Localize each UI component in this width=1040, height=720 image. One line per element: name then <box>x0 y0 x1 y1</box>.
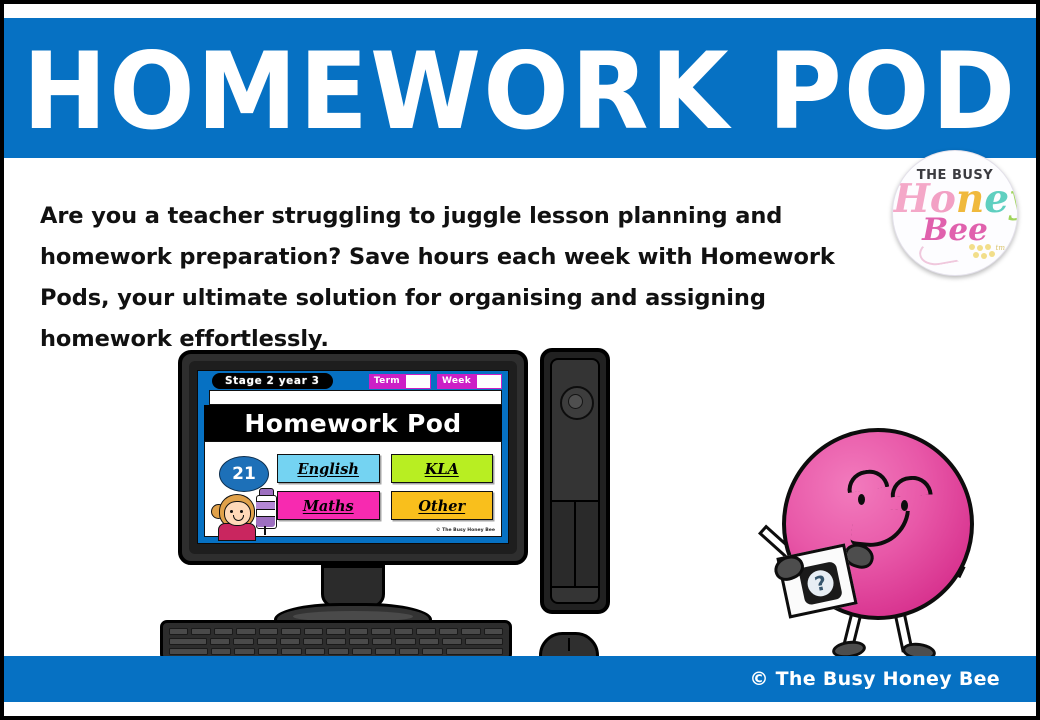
girl-face <box>224 501 251 526</box>
subject-button-maths[interactable]: Maths <box>277 491 380 520</box>
monitor: Stage 2 year 3 Term Week Homework Pod <box>178 350 528 565</box>
monitor-neck <box>321 565 385 608</box>
logo-bee-text: Bee <box>893 213 1017 247</box>
screen-content: 21 English KLA Maths Other <box>204 441 502 537</box>
logo-trademark: tm <box>996 244 1005 252</box>
keyboard-row <box>169 648 503 655</box>
monitor-screen: Stage 2 year 3 Term Week Homework Pod <box>197 370 509 544</box>
header-band: HOMEWORK POD <box>4 18 1036 158</box>
subject-button-maths-label: Maths <box>303 498 354 515</box>
girl-clipart <box>211 488 285 536</box>
page-title: HOMEWORK POD <box>4 36 1036 148</box>
footer-credit: © The Busy Honey Bee <box>749 656 1000 702</box>
bottle-band-upper <box>256 501 275 510</box>
girl-eye-right <box>240 510 243 513</box>
subject-button-kla-label: KLA <box>425 461 459 478</box>
term-week-group: Term Week <box>369 373 502 389</box>
screen-credit: © The Busy Honey Bee <box>436 528 495 533</box>
keyboard-row <box>169 638 503 645</box>
power-button[interactable] <box>560 386 594 420</box>
girl-mouth <box>233 515 244 521</box>
stage-label: Stage 2 year 3 <box>212 373 333 389</box>
monitor-bezel: Stage 2 year 3 Term Week Homework Pod <box>189 361 517 554</box>
brand-logo-badge: THE BUSY Honey Bee tm <box>892 150 1018 276</box>
logo-honeycomb-icon <box>969 244 999 260</box>
question-mark-glyph: ? <box>799 567 842 600</box>
week-label: Week <box>437 374 476 389</box>
subject-button-english-label: English <box>298 461 359 478</box>
description-paragraph: Are you a teacher struggling to juggle l… <box>40 196 874 360</box>
computer-tower <box>540 348 610 614</box>
subject-button-english[interactable]: English <box>277 454 380 483</box>
girl-eye-left <box>230 510 233 513</box>
character-eyebrow-left <box>845 467 890 493</box>
subject-button-other-label: Other <box>418 498 465 515</box>
week-input[interactable] <box>476 374 502 389</box>
footer-band: © The Busy Honey Bee <box>4 656 1036 702</box>
screen-topbar: Stage 2 year 3 Term Week <box>198 371 508 391</box>
screen-title-band: Homework Pod <box>204 405 502 441</box>
subject-row-2: Maths Other <box>277 491 493 520</box>
subject-button-kla[interactable]: KLA <box>391 454 494 483</box>
poster-page: HOMEWORK POD THE BUSY Honey Bee tm Are y… <box>4 4 1036 716</box>
description-text: Are you a teacher struggling to juggle l… <box>40 196 874 360</box>
number-badge: 21 <box>219 456 269 492</box>
bottle-handle <box>264 526 266 535</box>
tower-drive-bay <box>550 500 600 588</box>
pod-character: ? <box>752 428 1002 678</box>
computer-illustration: Stage 2 year 3 Term Week Homework Pod <box>144 344 644 684</box>
water-bottle-icon <box>255 488 276 534</box>
subject-row-1: English KLA <box>277 454 493 483</box>
subject-button-grid: English KLA Maths Other <box>277 454 493 528</box>
character-eyebrow-right <box>889 475 932 498</box>
screen-white-strip <box>209 390 502 405</box>
keyboard-row <box>169 628 503 635</box>
subject-button-other[interactable]: Other <box>391 491 494 520</box>
screen-title: Homework Pod <box>204 405 502 441</box>
question-gear-icon: ? <box>798 561 843 606</box>
character-eye-left <box>858 494 865 505</box>
term-label: Term <box>369 374 405 389</box>
term-input[interactable] <box>405 374 431 389</box>
